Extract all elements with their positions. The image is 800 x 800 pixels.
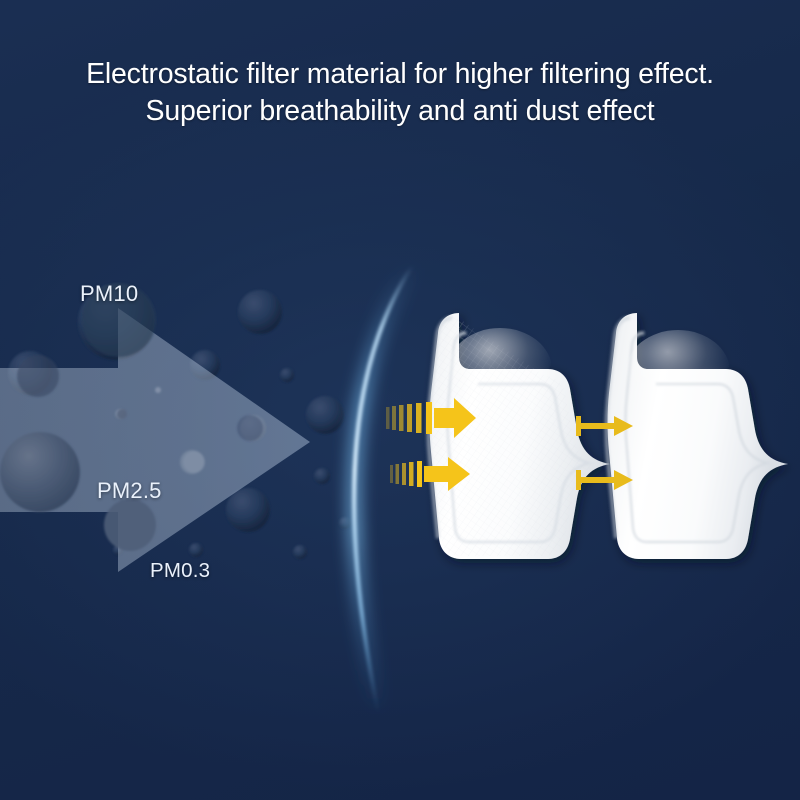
product-infographic: Electrostatic filter material for higher… — [0, 0, 800, 800]
inbound-flow-arrow-1 — [386, 396, 476, 440]
outbound-flow-arrow-1 — [576, 414, 634, 438]
outbound-flow-arrow-2 — [576, 468, 634, 492]
inbound-flow-arrow-2 — [390, 454, 470, 494]
